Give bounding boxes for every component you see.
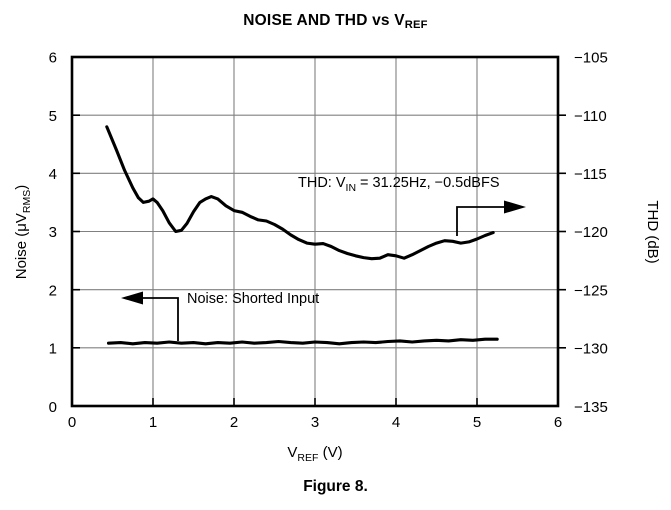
y-left-tick-label-6: 6 (49, 50, 57, 67)
y-left-tick-label-2: 2 (49, 282, 57, 299)
y-right-tick-label-135: −135 (574, 399, 608, 416)
y-left-axis-title-close: ) (13, 185, 30, 190)
x-tick-label-0: 0 (68, 414, 76, 431)
x-axis-title-main: V (287, 444, 297, 461)
x-axis-title-unit: (V) (318, 444, 342, 461)
y-left-axis-title-subscript: RMS (21, 190, 33, 213)
y-left-tick-label-1: 1 (49, 341, 57, 358)
x-axis-title: VREF (V) (287, 444, 342, 464)
figure-caption: Figure 8. (0, 478, 671, 496)
y-right-tick-label-110: −110 (574, 108, 607, 125)
chart-plot-area: THD: VIN = 31.25Hz, −0.5dBFS Noise: Shor… (0, 0, 671, 470)
x-tick-label-2: 2 (230, 414, 238, 431)
x-tick-label-4: 4 (392, 414, 400, 431)
y-left-tick-label-0: 0 (49, 399, 57, 416)
y-right-tick-label-105: −105 (574, 50, 608, 67)
figure-container: NOISE AND THD vs VREF (0, 0, 671, 510)
x-axis-title-subscript: REF (297, 452, 318, 464)
y-right-tick-label-125: −125 (574, 282, 608, 299)
x-tick-label-1: 1 (149, 414, 157, 431)
y-left-axis-title: Noise (μVRMS) (13, 185, 33, 280)
thd-annot-part-a: THD: V (298, 175, 346, 191)
y-right-tick-label-115: −115 (574, 166, 607, 183)
x-tick-label-6: 6 (554, 414, 562, 431)
thd-annot-subscript: IN (346, 182, 357, 194)
x-tick-label-5: 5 (473, 414, 481, 431)
x-tick-label-3: 3 (311, 414, 319, 431)
y-left-tick-label-5: 5 (49, 108, 57, 125)
y-right-tick-label-130: −130 (574, 341, 608, 358)
noise-annotation-text: Noise: Shorted Input (187, 291, 319, 307)
y-left-tick-label-3: 3 (49, 224, 57, 241)
y-left-axis-title-main: Noise (μV (13, 213, 30, 279)
y-right-tick-label-120: −120 (574, 224, 608, 241)
y-left-tick-label-4: 4 (49, 166, 57, 183)
thd-annot-part-b: = 31.25Hz, −0.5dBFS (356, 175, 499, 191)
y-right-axis-title: THD (dB) (644, 200, 661, 263)
